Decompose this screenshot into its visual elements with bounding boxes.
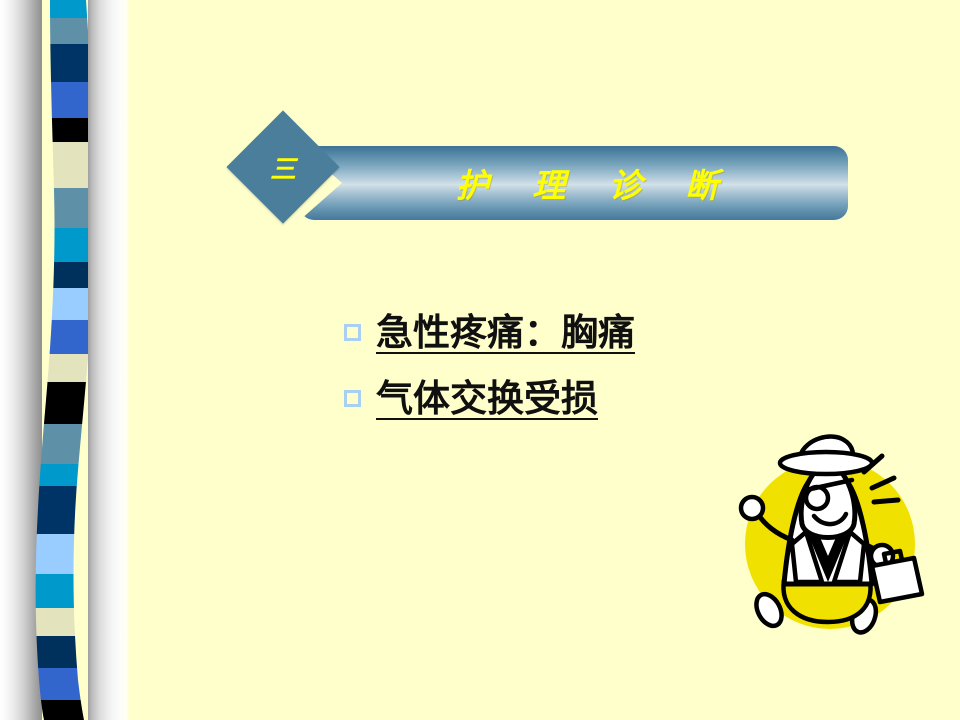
list-item[interactable]: 气体交换受损	[344, 372, 864, 424]
square-bullet-icon	[344, 324, 361, 341]
section-number-label: 三	[243, 127, 323, 207]
list-item[interactable]: 急性疼痛：胸痛	[344, 306, 864, 358]
slide-canvas: 护 理 诊 断 三 急性疼痛：胸痛 气体交换受损	[0, 0, 960, 720]
doctor-with-briefcase-icon	[722, 432, 938, 640]
list-item-label: 气体交换受损	[376, 378, 598, 419]
list-item-label: 急性疼痛：胸痛	[376, 312, 635, 353]
sidebar-right-shadow	[88, 0, 130, 720]
nursing-diagnosis-list: 急性疼痛：胸痛 气体交换受损	[344, 306, 864, 438]
sidebar-left-shadow	[0, 0, 42, 720]
square-bullet-icon	[344, 390, 361, 407]
decorative-sidebar	[0, 0, 130, 720]
page-title: 护 理 诊 断	[300, 146, 848, 220]
